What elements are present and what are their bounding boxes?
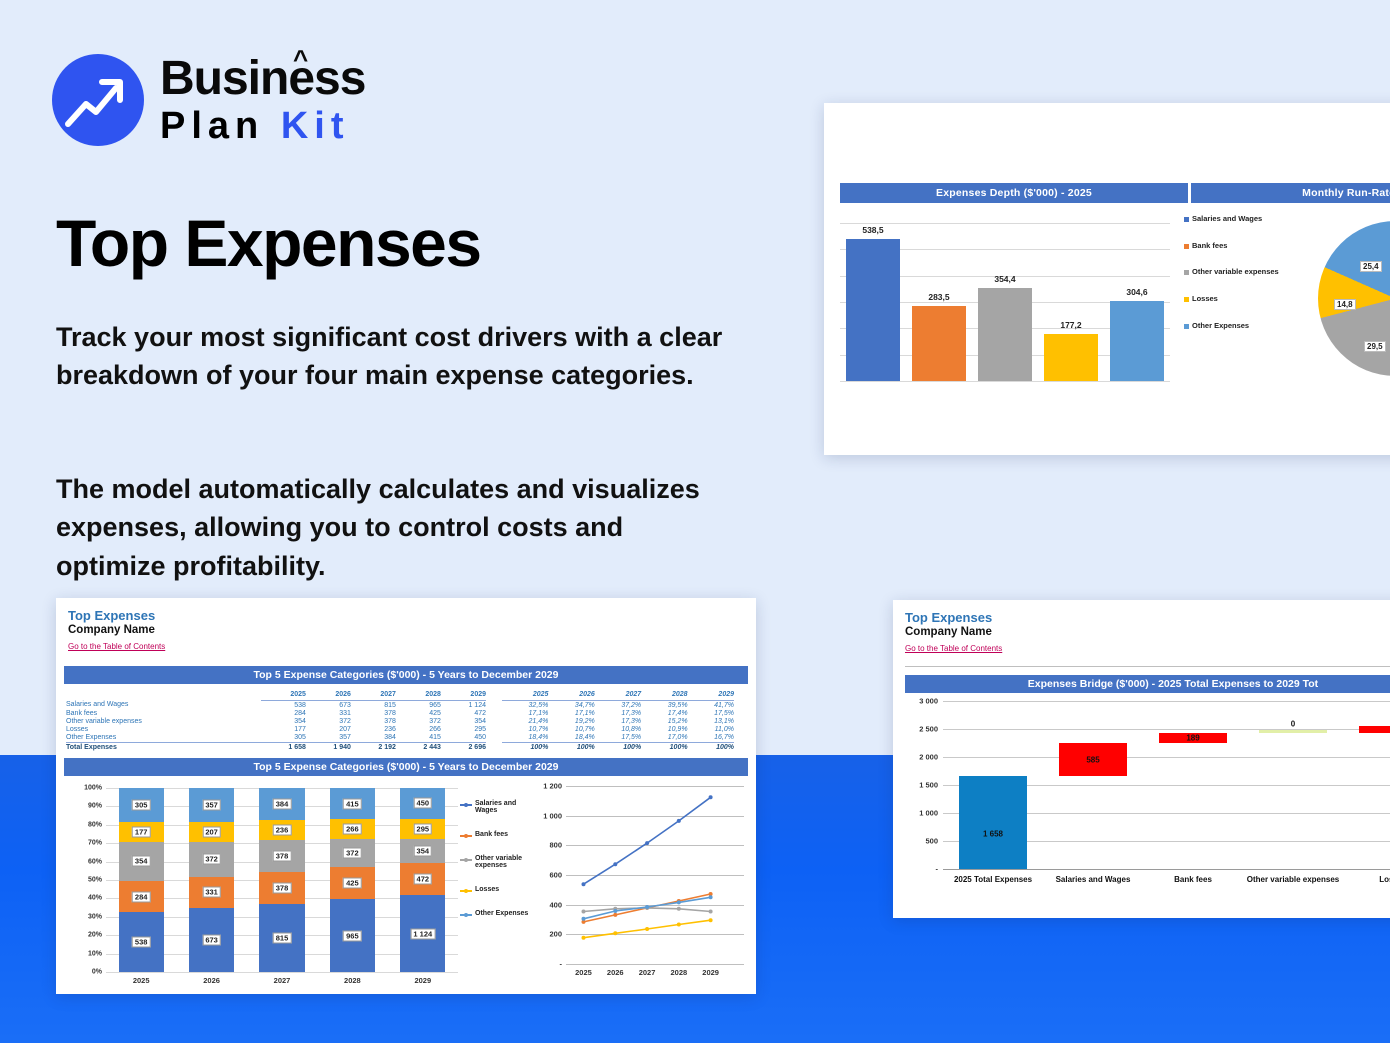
legend-label: Losses <box>1192 295 1218 304</box>
page-title: Top Expenses <box>56 205 481 281</box>
table-cell: 37,2% <box>595 701 641 710</box>
brand-name-top: Business ^ <box>160 55 365 103</box>
legend-label: Other Expenses <box>475 910 528 917</box>
waterfall-bar[interactable]: 0 <box>1259 730 1327 733</box>
segment-value-label: 354 <box>132 856 151 867</box>
legend-label: Salaries and Wages <box>1192 215 1262 224</box>
legend-swatch <box>1184 324 1189 329</box>
chart-title-bar-bridge: Expenses Bridge ($'000) - 2025 Total Exp… <box>905 675 1390 693</box>
stacked-segment[interactable]: 378 <box>259 840 304 872</box>
table-cell: 372 <box>396 717 441 725</box>
y-axis-tick: 800 <box>549 841 562 850</box>
bar-value-label: 304,6 <box>1126 287 1147 297</box>
bridge-worksheet-header: Top Expenses Company Name Go to the Tabl… <box>893 600 1390 660</box>
stacked-segment[interactable]: 266 <box>330 819 375 839</box>
table-header-row: 20252026202720282029 <box>66 688 486 701</box>
gridline <box>840 223 1170 224</box>
y-axis-tick: 70% <box>88 840 102 847</box>
table-cell: 17,5% <box>595 734 641 743</box>
segment-value-label: 266 <box>343 824 362 835</box>
segment-value-label: 354 <box>414 845 433 856</box>
waterfall-y-axis: 3 0002 5002 0001 5001 000500- <box>901 701 941 869</box>
bar-value-label: 538,5 <box>862 225 883 235</box>
x-axis-label: 2027 <box>639 968 656 977</box>
stacked-segment[interactable]: 538 <box>119 912 164 972</box>
growth-arrow-icon <box>52 54 144 146</box>
worksheet-header: Top Expenses Company Name Go to the Tabl… <box>56 598 756 658</box>
stacked-segment[interactable]: 1 124 <box>400 895 445 972</box>
y-axis-tick: 1 500 <box>919 781 938 790</box>
column-header: 2027 <box>595 688 641 701</box>
x-axis-label: Other variable expenses <box>1247 875 1340 884</box>
gridline <box>566 964 744 965</box>
expense-percent-table[interactable]: 2025202620272028202932,5%34,7%37,2%39,5%… <box>502 688 734 752</box>
row-label: Salaries and Wages <box>66 701 261 710</box>
x-axis-label: Losses <box>1379 875 1390 884</box>
stacked-100-bar-chart[interactable]: 100%90%80%70%60%50%40%30%20%10%0% 305177… <box>70 788 460 1006</box>
total-cell: 100% <box>548 742 594 752</box>
brand-word-business: Business <box>160 52 365 105</box>
table-cell: 295 <box>441 726 486 734</box>
stacked-segment[interactable]: 450 <box>400 788 445 819</box>
x-axis-label: 2029 <box>414 976 431 985</box>
segment-value-label: 378 <box>273 850 292 861</box>
table-cell: 17,1% <box>548 709 594 717</box>
bar-value-label: 354,4 <box>994 274 1015 284</box>
expenses-depth-column-chart[interactable]: 538,5283,5354,4177,2304,6 <box>840 207 1188 393</box>
y-axis-tick: 500 <box>925 837 938 846</box>
table-cell: 10,9% <box>641 726 687 734</box>
stacked-segment[interactable]: 673 <box>189 908 234 972</box>
table-cell: 41,7% <box>688 701 734 710</box>
stacked-segment[interactable]: 207 <box>189 822 234 842</box>
total-label: Total Expenses <box>66 742 261 752</box>
legend-label: Bank fees <box>1192 242 1227 251</box>
segment-value-label: 236 <box>273 825 292 836</box>
segment-value-label: 450 <box>414 798 433 809</box>
waterfall-value-label: 0 <box>1291 720 1295 729</box>
column-bar[interactable]: 538,5 <box>846 239 900 381</box>
axis-line <box>943 869 1390 870</box>
segment-value-label: 305 <box>132 799 151 810</box>
legend-label: Salaries and Wages <box>475 800 534 814</box>
waterfall-value-label: 585 <box>1086 755 1099 764</box>
table-cell: 13,1% <box>688 717 734 725</box>
stacked-segment[interactable]: 425 <box>330 867 375 899</box>
table-cell: 354 <box>441 717 486 725</box>
total-cell: 2 192 <box>351 742 396 752</box>
brand-circumflex-icon: ^ <box>293 46 307 72</box>
table-title-bar: Top 5 Expense Categories ($'000) - 5 Yea… <box>64 666 748 684</box>
legend-item: Losses <box>460 886 534 893</box>
segment-value-label: 331 <box>202 887 221 898</box>
data-tables-row: 20252026202720282029Salaries and Wages53… <box>56 688 756 752</box>
column-bar[interactable]: 283,5 <box>912 306 966 381</box>
legend-label: Other Expenses <box>1192 322 1249 331</box>
table-cell: 266 <box>396 726 441 734</box>
table-cell: 1 124 <box>441 701 486 710</box>
legend-line-swatch <box>460 890 472 892</box>
y-axis-tick: 20% <box>88 932 102 939</box>
chart-title-bar-stacked: Top 5 Expense Categories ($'000) - 5 Yea… <box>64 758 748 776</box>
table-cell: 17,0% <box>641 734 687 743</box>
table-cell: 11,0% <box>688 726 734 734</box>
table-cell: 18,4% <box>548 734 594 743</box>
segment-value-label: 357 <box>202 799 221 810</box>
y-axis-tick: - <box>936 865 939 874</box>
table-cell: 450 <box>441 734 486 743</box>
x-axis-label: 2028 <box>670 968 687 977</box>
table-cell: 10,7% <box>502 726 548 734</box>
table-cell: 32,5% <box>502 701 548 710</box>
line-series-group <box>566 786 744 964</box>
stacked-segment[interactable]: 305 <box>119 788 164 822</box>
segment-value-label: 425 <box>343 878 362 889</box>
legend-line-swatch <box>460 804 472 806</box>
segment-value-label: 538 <box>132 937 151 948</box>
table-cell: 472 <box>441 709 486 717</box>
column-header: 2025 <box>261 688 306 701</box>
expenses-depth-plot-area: 538,5283,5354,4177,2304,6 <box>840 223 1170 381</box>
legend-line-swatch <box>460 859 472 861</box>
column-header: 2028 <box>641 688 687 701</box>
column-bar[interactable]: 304,6 <box>1110 301 1164 381</box>
waterfall-bar[interactable]: 1 658 <box>959 776 1027 869</box>
expenses-depth-legend: Salaries and WagesBank feesOther variabl… <box>1184 215 1304 348</box>
stacked-segment[interactable]: 331 <box>189 877 234 908</box>
stacked-segment[interactable]: 472 <box>400 863 445 895</box>
total-cell: 2 443 <box>396 742 441 752</box>
table-cell: 10,7% <box>548 726 594 734</box>
legend-item: Losses <box>1184 295 1304 304</box>
y-axis-tick: 90% <box>88 803 102 810</box>
worksheet-panel-bridge[interactable]: Top Expenses Company Name Go to the Tabl… <box>893 600 1390 918</box>
table-cell: 415 <box>396 734 441 743</box>
stacked-segment[interactable]: 177 <box>119 822 164 842</box>
column-header: 2029 <box>441 688 486 701</box>
dashboard-panel-charts[interactable]: Expenses Depth ($'000) - 2025 Monthly Ru… <box>824 103 1390 455</box>
table-row[interactable]: Bank fees284331378425472 <box>66 709 486 717</box>
stacked-segment[interactable]: 815 <box>259 904 304 972</box>
table-cell: 17,1% <box>502 709 548 717</box>
x-axis-label: 2025 <box>575 968 592 977</box>
legend-label: Other variable expenses <box>475 855 534 869</box>
table-cell: 815 <box>351 701 396 710</box>
y-axis-tick: 600 <box>549 871 562 880</box>
expense-values-table[interactable]: 20252026202720282029Salaries and Wages53… <box>66 688 486 752</box>
total-cell: 2 696 <box>441 742 486 752</box>
y-axis-tick: 40% <box>88 895 102 902</box>
x-axis-label: Bank fees <box>1174 875 1212 884</box>
segment-value-label: 372 <box>343 848 362 859</box>
table-cell: 19,2% <box>548 717 594 725</box>
x-axis-label: 2025 <box>133 976 150 985</box>
table-cell: 284 <box>261 709 306 717</box>
table-cell: 331 <box>306 709 351 717</box>
table-cell: 177 <box>261 726 306 734</box>
legend-item: Salaries and Wages <box>460 800 534 814</box>
table-cell: 384 <box>351 734 396 743</box>
hero-paragraph-1: Track your most significant cost drivers… <box>56 318 736 395</box>
legend-item: Bank fees <box>1184 242 1304 251</box>
divider <box>905 666 1390 667</box>
table-cell: 21,4% <box>502 717 548 725</box>
segment-value-label: 372 <box>202 854 221 865</box>
legend-item: Other Expenses <box>460 910 534 917</box>
legend-item: Other Expenses <box>1184 322 1304 331</box>
x-axis-label: 2028 <box>344 976 361 985</box>
table-row[interactable]: Losses177207236266295 <box>66 726 486 734</box>
segment-value-label: 177 <box>132 826 151 837</box>
table-cell: 34,7% <box>548 701 594 710</box>
x-axis-label: Salaries and Wages <box>1056 875 1131 884</box>
table-row[interactable]: Other variable expenses354372378372354 <box>66 717 486 725</box>
table-cell: 10,8% <box>595 726 641 734</box>
line-chart-y-axis: 1 2001 000800600400200- <box>534 786 564 964</box>
segment-value-label: 415 <box>343 798 362 809</box>
brand-word-plan: Plan <box>160 105 264 147</box>
legend-item: Other variable expenses <box>1184 268 1304 277</box>
x-axis-label: 2027 <box>274 976 291 985</box>
x-axis-label: 2026 <box>203 976 220 985</box>
y-axis-tick: - <box>560 960 563 969</box>
column-bar[interactable]: 354,4 <box>978 288 1032 381</box>
y-axis-tick: 1 200 <box>543 782 562 791</box>
y-axis-tick: 0% <box>92 969 102 976</box>
total-cell: 1 658 <box>261 742 306 752</box>
legend-item: Other variable expenses <box>460 855 534 869</box>
table-cell: 372 <box>306 717 351 725</box>
stacked-column[interactable]: 357207372331673 <box>189 788 234 972</box>
stacked-segment[interactable]: 354 <box>400 839 445 863</box>
stacked-segment[interactable]: 357 <box>189 788 234 822</box>
y-axis-tick: 60% <box>88 858 102 865</box>
y-axis-tick: 80% <box>88 821 102 828</box>
column-header: 2028 <box>396 688 441 701</box>
bridge-company-name: Company Name <box>905 626 1390 638</box>
y-axis-tick: 50% <box>88 877 102 884</box>
y-axis-tick: 1 000 <box>543 811 562 820</box>
table-row[interactable]: 10,7%10,7%10,8%10,9%11,0% <box>502 726 734 734</box>
expense-trend-line-chart[interactable]: Salaries and WagesBank feesOther variabl… <box>460 786 750 1008</box>
legend-swatch <box>1184 244 1189 249</box>
bridge-worksheet-title: Top Expenses <box>905 610 1390 625</box>
table-total-row: Total Expenses1 6581 9402 1922 4432 696 <box>66 742 486 752</box>
table-cell: 357 <box>306 734 351 743</box>
table-cell: 354 <box>261 717 306 725</box>
column-header: 2027 <box>351 688 396 701</box>
segment-value-label: 207 <box>202 826 221 837</box>
x-axis-label: 2025 Total Expenses <box>954 875 1032 884</box>
table-row[interactable]: 18,4%18,4%17,5%17,0%16,7% <box>502 734 734 743</box>
legend-swatch <box>1184 270 1189 275</box>
segment-value-label: 384 <box>273 799 292 810</box>
total-cell: 100% <box>688 742 734 752</box>
table-cell: 15,2% <box>641 717 687 725</box>
pie-slice-label: 14,8 <box>1334 299 1356 310</box>
waterfall-bar[interactable]: 189 <box>1159 733 1227 744</box>
stacked-y-axis: 100%90%80%70%60%50%40%30%20%10%0% <box>70 788 104 972</box>
stacked-segment[interactable]: 372 <box>330 839 375 867</box>
x-axis-label: 2026 <box>607 968 624 977</box>
stacked-segment[interactable]: 384 <box>259 788 304 820</box>
waterfall-plot-area: 1 65858518901 <box>943 701 1390 869</box>
table-cell: 378 <box>351 709 396 717</box>
hero-paragraph-2: The model automatically calculates and v… <box>56 470 736 585</box>
y-axis-tick: 30% <box>88 913 102 920</box>
segment-value-label: 284 <box>132 891 151 902</box>
waterfall-chart[interactable]: 3 0002 5002 0001 5001 000500- 1 65858518… <box>893 697 1390 893</box>
table-cell: 39,5% <box>641 701 687 710</box>
segment-value-label: 295 <box>414 823 433 834</box>
table-cell: 16,7% <box>688 734 734 743</box>
legend-line-swatch <box>460 835 472 837</box>
column-header <box>66 688 261 701</box>
chart-title-expenses-depth: Expenses Depth ($'000) - 2025 <box>840 183 1188 203</box>
y-axis-tick: 100% <box>84 785 102 792</box>
legend-swatch <box>1184 297 1189 302</box>
y-axis-tick: 400 <box>549 900 562 909</box>
legend-line-swatch <box>460 914 472 916</box>
brand-name-bottom: Plan Kit <box>160 107 365 145</box>
stacked-column[interactable]: 305177354284538 <box>119 788 164 972</box>
table-header-row: 20252026202720282029 <box>502 688 734 701</box>
table-cell: 378 <box>351 717 396 725</box>
stacked-segment[interactable]: 372 <box>189 842 234 877</box>
legend-item: Bank fees <box>460 831 534 838</box>
table-cell: 17,3% <box>595 709 641 717</box>
gridline <box>943 757 1390 758</box>
gridline <box>106 972 458 973</box>
bar-value-label: 177,2 <box>1060 320 1081 330</box>
bottomleft-charts-row: 100%90%80%70%60%50%40%30%20%10%0% 305177… <box>56 776 756 1008</box>
worksheet-panel-top5[interactable]: Top Expenses Company Name Go to the Tabl… <box>56 598 756 994</box>
stacked-segment[interactable]: 354 <box>119 842 164 881</box>
stacked-column[interactable]: 415266372425965 <box>330 788 375 972</box>
legend-swatch <box>1184 217 1189 222</box>
waterfall-bar[interactable]: 1 <box>1359 726 1390 733</box>
column-header: 2026 <box>306 688 351 701</box>
stacked-segment[interactable]: 295 <box>400 819 445 839</box>
stacked-segment[interactable]: 378 <box>259 872 304 904</box>
waterfall-value-label: 189 <box>1186 734 1199 743</box>
pie-slice-label: 25,4 <box>1360 261 1382 272</box>
column-header: 2029 <box>688 688 734 701</box>
table-cell: 305 <box>261 734 306 743</box>
row-label: Losses <box>66 726 261 734</box>
segment-value-label: 673 <box>202 935 221 946</box>
segment-value-label: 378 <box>273 882 292 893</box>
table-cell: 17,3% <box>595 717 641 725</box>
y-axis-tick: 200 <box>549 930 562 939</box>
pie-slice-label: 29,5 <box>1364 341 1386 352</box>
legend-label: Losses <box>475 886 499 893</box>
slide-canvas: Business ^ Plan Kit Top Expenses Track y… <box>0 0 1390 1043</box>
legend-item: Salaries and Wages <box>1184 215 1304 224</box>
segment-value-label: 815 <box>273 932 292 943</box>
y-axis-tick: 1 000 <box>919 809 938 818</box>
worksheet-company-name: Company Name <box>68 624 744 636</box>
table-cell: 538 <box>261 701 306 710</box>
waterfall-value-label: 1 658 <box>983 829 1003 838</box>
gridline <box>943 701 1390 702</box>
x-axis-label: 2029 <box>702 968 719 977</box>
total-cell: 1 940 <box>306 742 351 752</box>
table-cell: 17,5% <box>688 709 734 717</box>
segment-value-label: 965 <box>343 930 362 941</box>
stacked-plot-area: 3051773542845383572073723316733842363783… <box>106 788 458 972</box>
stacked-x-axis-labels: 20252026202720282029 <box>106 976 458 992</box>
line-chart-legend: Salaries and WagesBank feesOther variabl… <box>460 800 534 934</box>
table-cell: 425 <box>396 709 441 717</box>
legend-label: Bank fees <box>475 831 508 838</box>
legend-label: Other variable expenses <box>1192 268 1279 277</box>
chart-title-monthly-run-rate: Monthly Run-Rate ($'000 <box>1191 183 1390 203</box>
row-label: Bank fees <box>66 709 261 717</box>
stacked-segment[interactable]: 965 <box>330 899 375 972</box>
table-row[interactable]: Salaries and Wages5386738159651 124 <box>66 701 486 710</box>
total-cell: 100% <box>502 742 548 752</box>
table-row[interactable]: 21,4%19,2%17,3%15,2%13,1% <box>502 717 734 725</box>
stacked-segment[interactable]: 236 <box>259 820 304 840</box>
brand-logo: Business ^ Plan Kit <box>52 54 365 146</box>
segment-value-label: 1 124 <box>410 928 435 939</box>
worksheet-title: Top Expenses <box>68 608 744 623</box>
axis-line <box>840 381 1170 382</box>
y-axis-tick: 2 500 <box>919 725 938 734</box>
table-cell: 965 <box>396 701 441 710</box>
row-label: Other variable expenses <box>66 717 261 725</box>
line-chart-plot-area <box>566 786 744 964</box>
topright-chart-titles: Expenses Depth ($'000) - 2025 Monthly Ru… <box>840 183 1390 203</box>
waterfall-bar[interactable]: 585 <box>1059 743 1127 776</box>
table-total-row: 100%100%100%100%100% <box>502 742 734 752</box>
stacked-segment[interactable]: 284 <box>119 881 164 913</box>
column-header: 2025 <box>502 688 548 701</box>
monthly-run-rate-pie-chart[interactable]: 25,414,829,5 <box>1318 221 1390 381</box>
y-axis-tick: 10% <box>88 950 102 957</box>
table-cell: 673 <box>306 701 351 710</box>
table-cell: 17,4% <box>641 709 687 717</box>
table-row[interactable]: Other Expenses305357384415450 <box>66 734 486 743</box>
stacked-column[interactable]: 384236378378815 <box>259 788 304 972</box>
bridge-table-of-contents-link[interactable]: Go to the Table of Contents <box>905 644 1002 653</box>
segment-value-label: 472 <box>414 874 433 885</box>
table-row[interactable]: 32,5%34,7%37,2%39,5%41,7% <box>502 701 734 710</box>
brand-word-kit: Kit <box>281 105 350 147</box>
table-cell: 207 <box>306 726 351 734</box>
table-of-contents-link[interactable]: Go to the Table of Contents <box>68 642 165 651</box>
bar-value-label: 283,5 <box>928 292 949 302</box>
total-cell: 100% <box>641 742 687 752</box>
table-row[interactable]: 17,1%17,1%17,3%17,4%17,5% <box>502 709 734 717</box>
stacked-segment[interactable]: 415 <box>330 788 375 819</box>
column-bar[interactable]: 177,2 <box>1044 334 1098 381</box>
stacked-column[interactable]: 4502953544721 124 <box>400 788 445 972</box>
y-axis-tick: 3 000 <box>919 697 938 706</box>
table-cell: 236 <box>351 726 396 734</box>
row-label: Other Expenses <box>66 734 261 743</box>
y-axis-tick: 2 000 <box>919 753 938 762</box>
table-cell: 18,4% <box>502 734 548 743</box>
column-header: 2026 <box>548 688 594 701</box>
total-cell: 100% <box>595 742 641 752</box>
